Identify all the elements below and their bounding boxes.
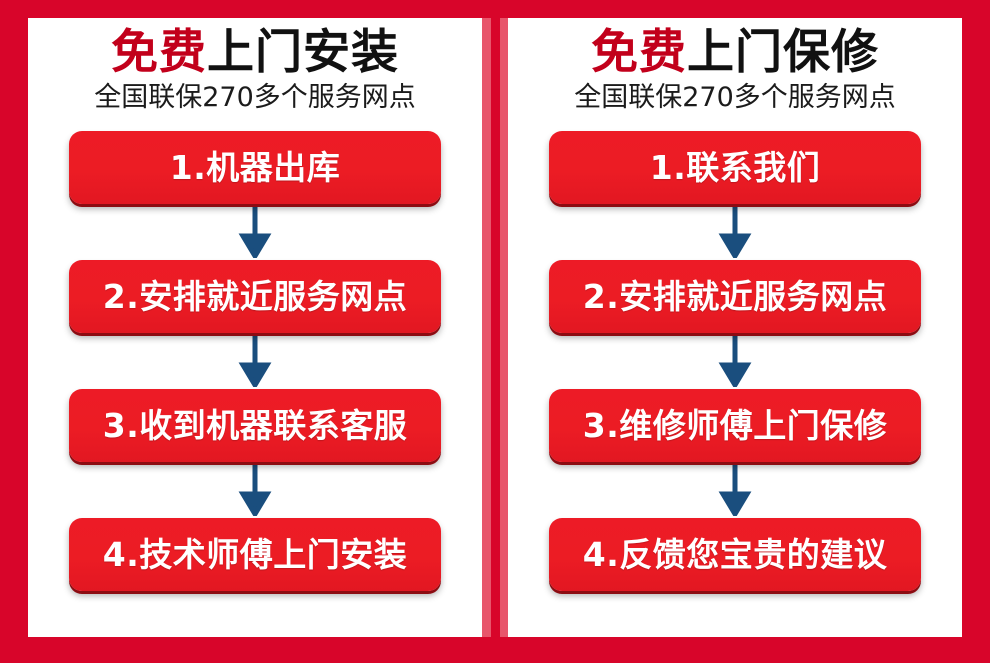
- headline-rest-text: 上门安装: [207, 25, 399, 80]
- poster-root: 免费上门安装 全国联保270多个服务网点 1.机器出库 2.安排就近服务网点: [0, 0, 990, 663]
- panel-warranty: 免费上门保修 全国联保270多个服务网点 1.联系我们 2.安排就近服务网点: [508, 18, 962, 637]
- panel-warranty-subline: 全国联保270多个服务网点: [526, 82, 944, 113]
- step-label: 1.机器出库: [170, 151, 341, 184]
- down-arrow-icon: [718, 464, 752, 516]
- step-label: 3.维修师傅上门保修: [583, 409, 888, 442]
- headline-free-text: 免费: [111, 25, 207, 80]
- step-label: 4.反馈您宝贵的建议: [583, 538, 888, 571]
- panel-installation-flow: 1.机器出库 2.安排就近服务网点 3.收到机器联系客服: [46, 131, 464, 591]
- step-box[interactable]: 2.安排就近服务网点: [549, 260, 921, 333]
- step-box[interactable]: 4.反馈您宝贵的建议: [549, 518, 921, 591]
- step-label: 2.安排就近服务网点: [103, 280, 408, 313]
- panel-warranty-headline: 免费上门保修: [526, 28, 944, 78]
- headline-rest-text: 上门保修: [687, 25, 879, 80]
- panel-installation-subline: 全国联保270多个服务网点: [46, 82, 464, 113]
- step-label: 1.联系我们: [650, 151, 821, 184]
- step-box[interactable]: 1.机器出库: [69, 131, 441, 204]
- headline-free-text: 免费: [591, 25, 687, 80]
- step-box[interactable]: 3.维修师傅上门保修: [549, 389, 921, 462]
- down-arrow-icon: [718, 335, 752, 387]
- step-label: 2.安排就近服务网点: [583, 280, 888, 313]
- panel-installation-headline: 免费上门安装: [46, 28, 464, 78]
- panel-installation-header: 免费上门安装 全国联保270多个服务网点: [46, 28, 464, 113]
- step-box[interactable]: 4.技术师傅上门安装: [69, 518, 441, 591]
- down-arrow-icon: [238, 206, 272, 258]
- step-label: 4.技术师傅上门安装: [103, 538, 408, 571]
- step-label: 3.收到机器联系客服: [103, 409, 408, 442]
- step-box[interactable]: 3.收到机器联系客服: [69, 389, 441, 462]
- step-box[interactable]: 1.联系我们: [549, 131, 921, 204]
- panel-warranty-header: 免费上门保修 全国联保270多个服务网点: [526, 28, 944, 113]
- panel-columns: 免费上门安装 全国联保270多个服务网点 1.机器出库 2.安排就近服务网点: [28, 18, 962, 637]
- panel-divider: [482, 18, 508, 637]
- panel-installation: 免费上门安装 全国联保270多个服务网点 1.机器出库 2.安排就近服务网点: [28, 18, 482, 637]
- panel-warranty-flow: 1.联系我们 2.安排就近服务网点 3.维修师傅上门保修: [526, 131, 944, 591]
- down-arrow-icon: [718, 206, 752, 258]
- down-arrow-icon: [238, 464, 272, 516]
- down-arrow-icon: [238, 335, 272, 387]
- step-box[interactable]: 2.安排就近服务网点: [69, 260, 441, 333]
